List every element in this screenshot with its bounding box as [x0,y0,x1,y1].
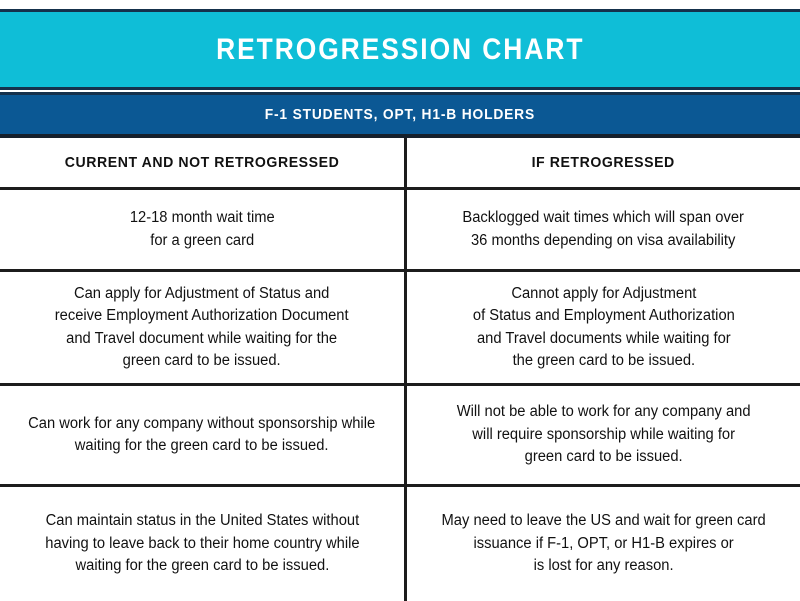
table-cell-current-2: Can apply for Adjustment of Status andre… [0,272,407,383]
table-cell-retrogressed-1: Backlogged wait times which will span ov… [407,190,800,269]
table-cell-current-1: 12-18 month wait timefor a green card [0,190,407,269]
page-title: RETROGRESSION CHART [216,33,584,67]
page-subtitle: F-1 STUDENTS, OPT, H1-B HOLDERS [265,106,535,123]
retrogression-chart-page: RETROGRESSION CHART F-1 STUDENTS, OPT, H… [0,0,800,601]
cell-text-retrogressed-4: May need to leave the US and wait for gr… [441,510,765,577]
table-row: Can maintain status in the United States… [0,487,800,601]
cell-text-retrogressed-1: Backlogged wait times which will span ov… [463,207,745,252]
comparison-table: CURRENT AND NOT RETROGRESSED IF RETROGRE… [0,138,800,601]
table-row: Can apply for Adjustment of Status andre… [0,272,800,386]
cell-text-current-3: Can work for any company without sponsor… [28,413,375,458]
column-header-retrogressed-label: IF RETROGRESSED [532,154,675,171]
cell-text-current-2: Can apply for Adjustment of Status andre… [55,283,349,373]
table-row: Can work for any company without sponsor… [0,386,800,487]
cell-text-retrogressed-3: Will not be able to work for any company… [457,401,751,468]
column-header-current-label: CURRENT AND NOT RETROGRESSED [65,154,340,171]
title-banner: RETROGRESSION CHART [0,9,800,90]
table-header-cell-current: CURRENT AND NOT RETROGRESSED [0,138,407,187]
table-cell-retrogressed-4: May need to leave the US and wait for gr… [407,487,800,601]
table-cell-retrogressed-3: Will not be able to work for any company… [407,386,800,484]
table-header-row: CURRENT AND NOT RETROGRESSED IF RETROGRE… [0,138,800,190]
table-header-cell-retrogressed: IF RETROGRESSED [407,138,800,187]
table-cell-retrogressed-2: Cannot apply for Adjustmentof Status and… [407,272,800,383]
table-cell-current-3: Can work for any company without sponsor… [0,386,407,484]
cell-text-current-4: Can maintain status in the United States… [45,510,359,577]
cell-text-retrogressed-2: Cannot apply for Adjustmentof Status and… [473,283,735,373]
cell-text-current-1: 12-18 month wait timefor a green card [130,207,275,252]
subtitle-banner: F-1 STUDENTS, OPT, H1-B HOLDERS [0,92,800,138]
table-row: 12-18 month wait timefor a green card Ba… [0,190,800,272]
table-cell-current-4: Can maintain status in the United States… [0,487,407,601]
